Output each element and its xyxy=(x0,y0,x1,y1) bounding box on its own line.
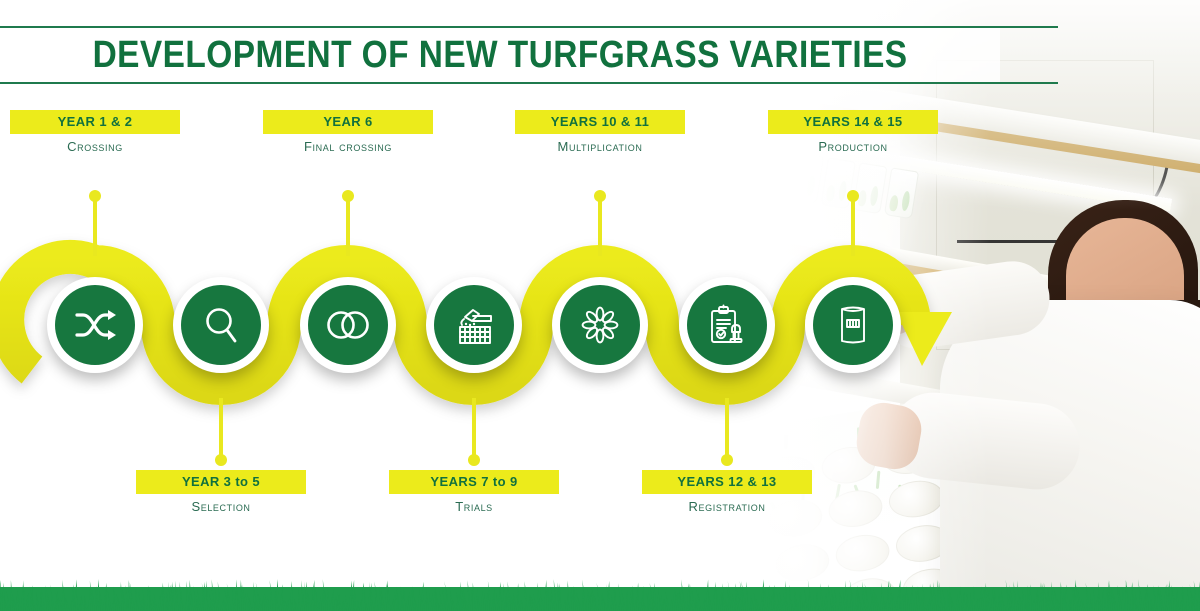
step-years-4: YEARS 7 to 9 xyxy=(389,470,559,494)
step-label-6: YEARS 12 & 13 Registration xyxy=(642,470,812,514)
step-label-1: YEAR 1 & 2 Crossing xyxy=(10,110,180,154)
step-stage-5: Multiplication xyxy=(515,140,685,154)
timeline-node-2[interactable] xyxy=(173,277,269,373)
node-disc xyxy=(308,285,388,365)
step-label-7: YEARS 14 & 15 Production xyxy=(768,110,938,154)
infographic-canvas: DEVELOPMENT OF NEW TURFGRASS VARIETIES xyxy=(0,0,1200,611)
connector-step-6 xyxy=(725,398,729,460)
step-years-1: YEAR 1 & 2 xyxy=(10,110,180,134)
connector-dot xyxy=(215,454,227,466)
shuffle-icon xyxy=(73,308,117,342)
timeline-node-6[interactable] xyxy=(679,277,775,373)
clipboard-stamp-icon xyxy=(705,303,749,347)
connector-dot xyxy=(468,454,480,466)
connector-step-3 xyxy=(346,196,350,256)
node-disc xyxy=(55,285,135,365)
timeline-node-3[interactable] xyxy=(300,277,396,373)
step-stage-1: Crossing xyxy=(10,140,180,154)
step-years-3: YEAR 6 xyxy=(263,110,433,134)
timeline-node-5[interactable] xyxy=(552,277,648,373)
page-title: DEVELOPMENT OF NEW TURFGRASS VARIETIES xyxy=(0,28,1000,82)
step-label-5: YEARS 10 & 11 Multiplication xyxy=(515,110,685,154)
step-years-6: YEARS 12 & 13 xyxy=(642,470,812,494)
venn-circles-icon xyxy=(325,310,371,340)
step-stage-6: Registration xyxy=(642,500,812,514)
connector-step-2 xyxy=(219,398,223,460)
node-disc xyxy=(434,285,514,365)
node-disc xyxy=(560,285,640,365)
page-title-text: DEVELOPMENT OF NEW TURFGRASS VARIETIES xyxy=(93,34,908,77)
seeds-icon xyxy=(578,304,622,346)
grass-strip xyxy=(0,565,1200,611)
step-stage-3: Final crossing xyxy=(263,140,433,154)
hand-sowing-icon xyxy=(452,304,496,346)
step-label-2: YEAR 3 to 5 Selection xyxy=(136,470,306,514)
connector-step-4 xyxy=(472,398,476,460)
connector-dot xyxy=(89,190,101,202)
step-years-7: YEARS 14 & 15 xyxy=(768,110,938,134)
node-disc xyxy=(687,285,767,365)
connector-dot xyxy=(847,190,859,202)
timeline-node-7[interactable] xyxy=(805,277,901,373)
magnifier-icon xyxy=(202,305,240,345)
step-years-5: YEARS 10 & 11 xyxy=(515,110,685,134)
connector-step-5 xyxy=(598,196,602,256)
step-stage-7: Production xyxy=(768,140,938,154)
connector-dot xyxy=(594,190,606,202)
connector-dot xyxy=(342,190,354,202)
step-label-4: YEARS 7 to 9 Trials xyxy=(389,470,559,514)
timeline-node-1[interactable] xyxy=(47,277,143,373)
title-rule-bottom xyxy=(0,82,1058,84)
seed-bag-icon xyxy=(835,303,871,347)
node-disc xyxy=(181,285,261,365)
connector-step-1 xyxy=(93,196,97,256)
step-label-3: YEAR 6 Final crossing xyxy=(263,110,433,154)
node-disc xyxy=(813,285,893,365)
connector-dot xyxy=(721,454,733,466)
step-stage-4: Trials xyxy=(389,500,559,514)
step-years-2: YEAR 3 to 5 xyxy=(136,470,306,494)
step-stage-2: Selection xyxy=(136,500,306,514)
connector-step-7 xyxy=(851,196,855,256)
timeline-node-4[interactable] xyxy=(426,277,522,373)
